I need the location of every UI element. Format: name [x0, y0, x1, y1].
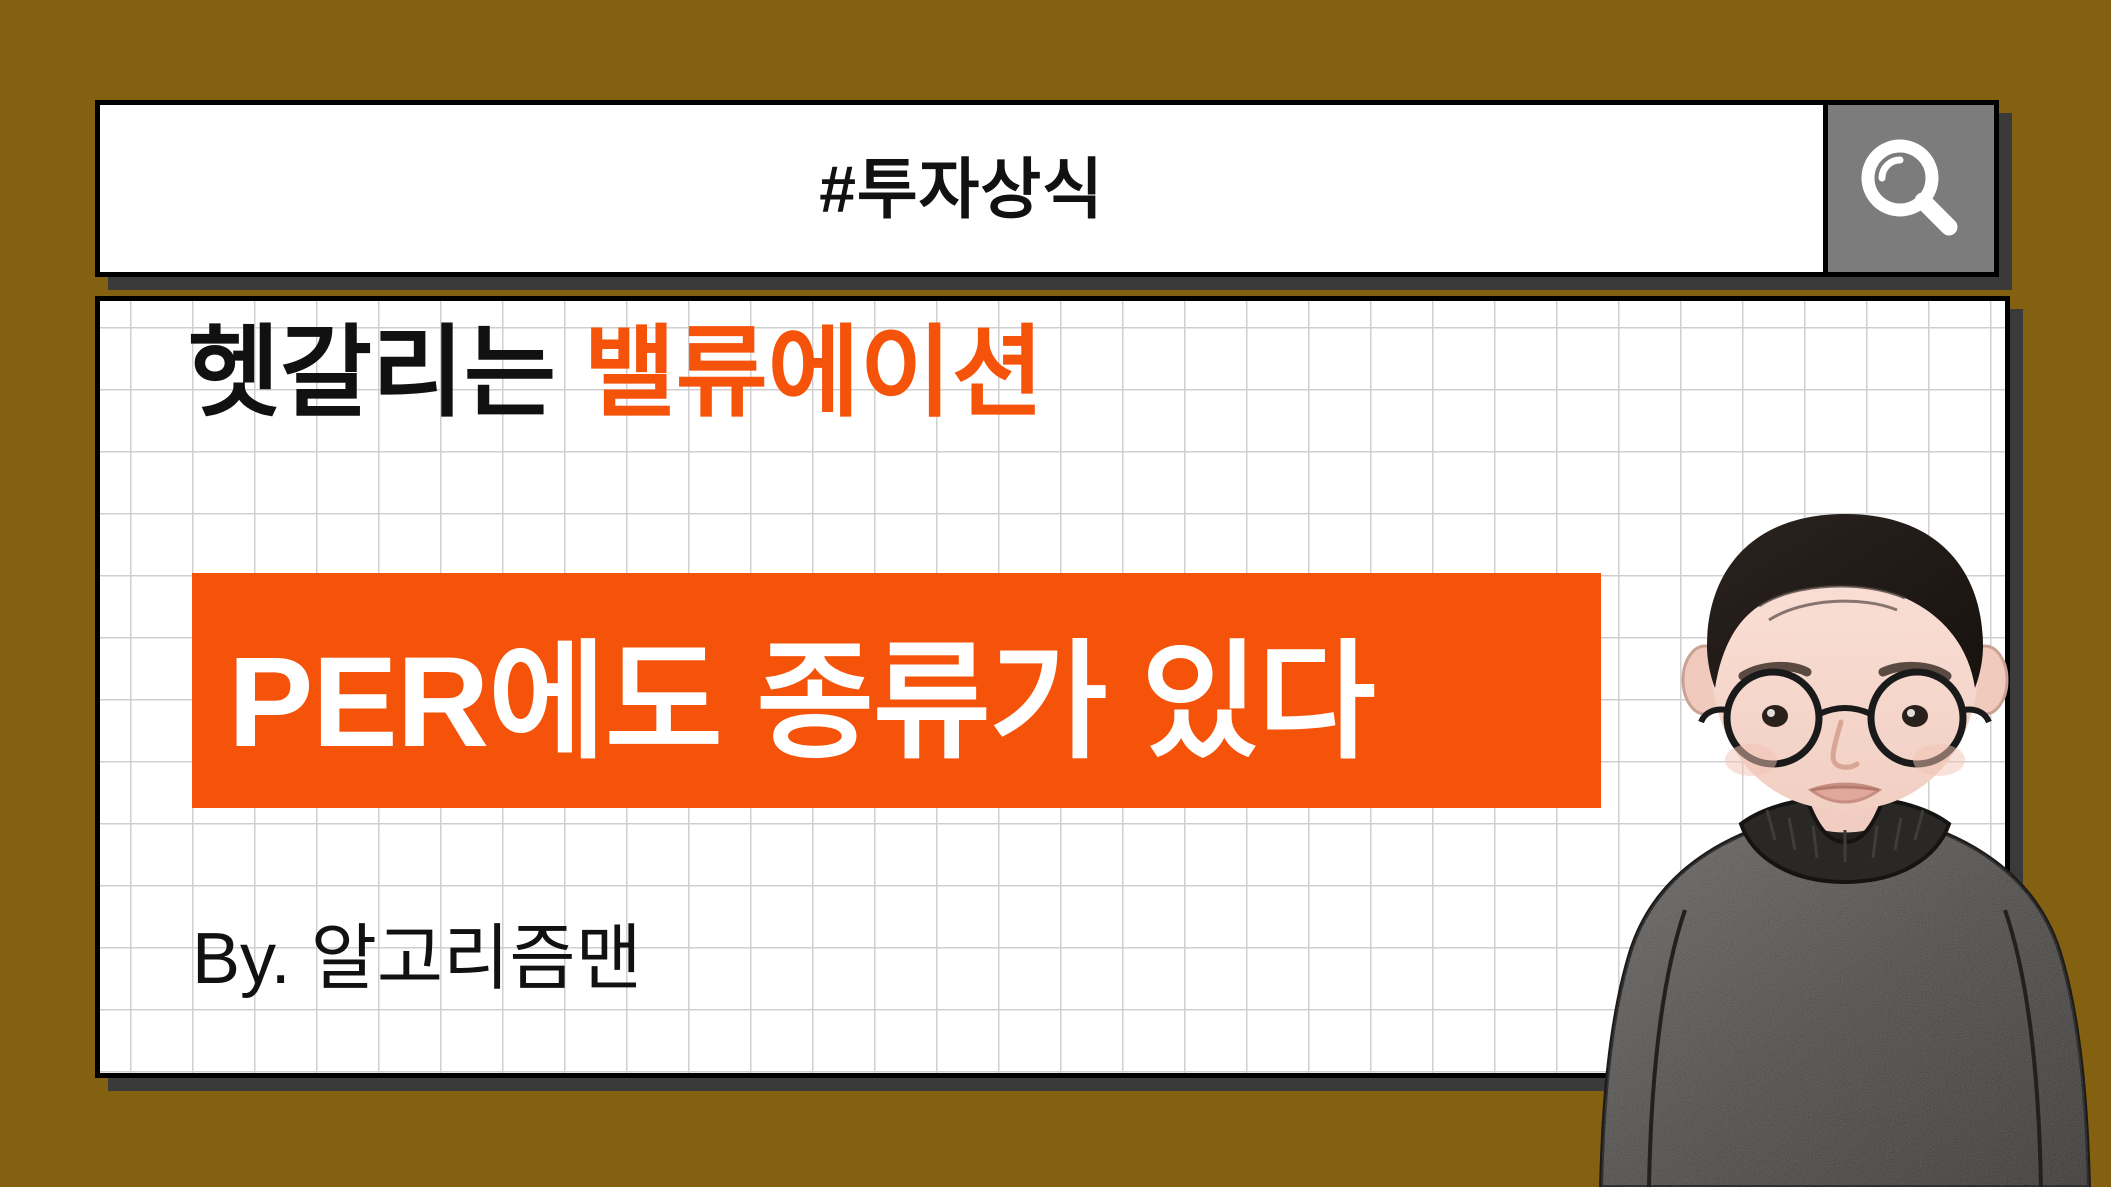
search-button[interactable] [1823, 105, 1994, 272]
headline-accent: 밸류에이션 [584, 317, 1044, 429]
banner-title: PER에도 종류가 있다 [192, 573, 1601, 808]
search-icon [1852, 130, 1970, 248]
search-bar[interactable]: #투자상식 [95, 100, 1999, 277]
search-input[interactable]: #투자상식 [100, 105, 1823, 272]
search-query-text: #투자상식 [819, 156, 1104, 222]
content-card: 헷갈리는 밸류에이션 PER에도 종류가 있다 By. 알고리즘맨 [95, 296, 2010, 1078]
thumbnail-canvas: #투자상식 헷갈리는 밸류에이션 PER에도 종류가 있다 By. 알고리즘맨 [0, 0, 2111, 1187]
byline: By. 알고리즘맨 [192, 899, 642, 1004]
headline: 헷갈리는 밸류에이션 [188, 321, 1044, 426]
headline-lead: 헷갈리는 [188, 317, 584, 429]
